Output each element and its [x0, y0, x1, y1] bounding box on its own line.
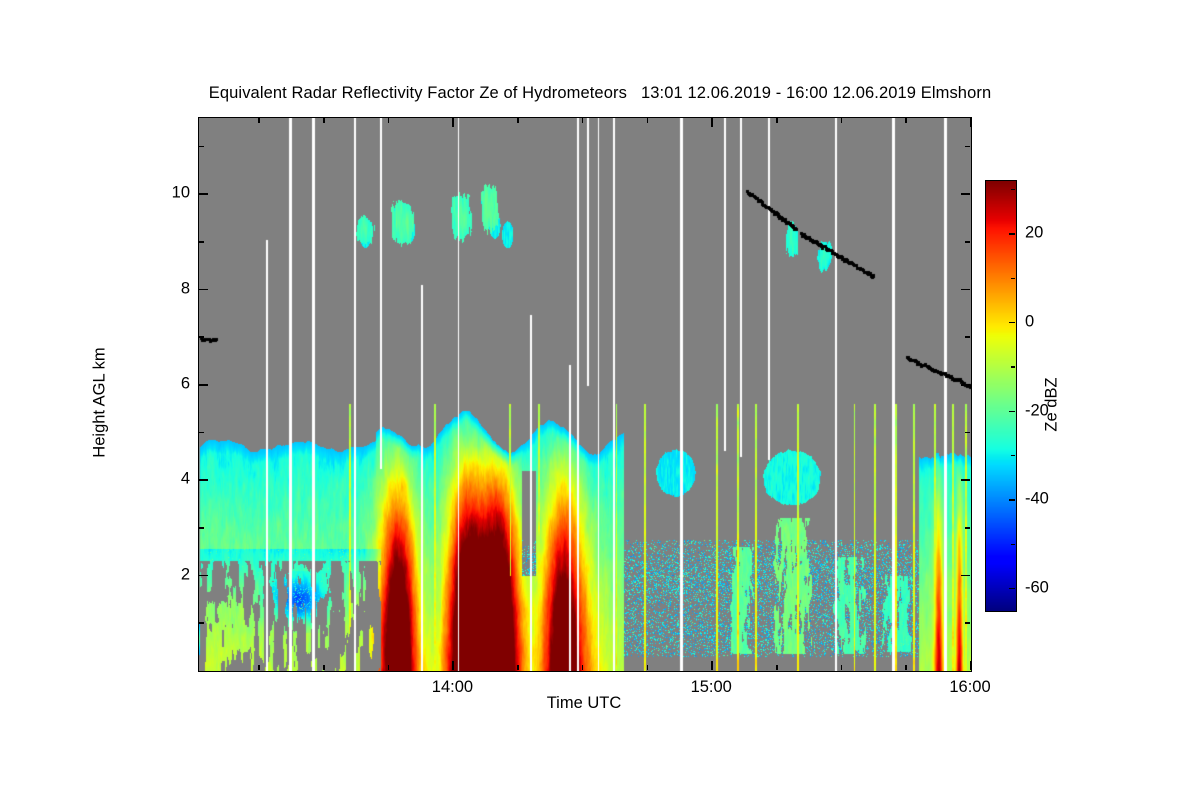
- y-minor-tick: [965, 241, 970, 243]
- y-major-tick: [199, 575, 208, 577]
- y-minor-tick: [199, 146, 204, 148]
- x-major-tick: [711, 661, 713, 670]
- x-major-tick: [970, 118, 972, 127]
- y-tick-label: 10: [152, 184, 190, 203]
- colorbar-minor-tick: [1011, 544, 1015, 545]
- radar-figure: Equivalent Radar Reflectivity Factor Ze …: [0, 0, 1200, 800]
- y-major-tick-right: [961, 289, 970, 291]
- colorbar-tick-label: 0: [1025, 312, 1034, 331]
- x-major-tick: [711, 118, 713, 127]
- plot-area[interactable]: [198, 117, 972, 672]
- colorbar-tick-label: -60: [1025, 578, 1049, 597]
- y-major-tick-right: [961, 384, 970, 386]
- y-minor-tick: [199, 622, 204, 624]
- y-minor-tick: [965, 622, 970, 624]
- x-minor-tick: [905, 118, 907, 123]
- x-minor-tick: [776, 118, 778, 123]
- y-minor-tick: [199, 432, 204, 434]
- y-major-tick-right: [961, 479, 970, 481]
- y-minor-tick: [965, 146, 970, 148]
- y-major-tick: [199, 193, 208, 195]
- y-tick-label: 6: [152, 374, 190, 393]
- x-minor-tick: [582, 118, 584, 123]
- colorbar-tick: [1009, 588, 1015, 590]
- y-tick-label: 8: [152, 279, 190, 298]
- x-minor-tick: [258, 665, 260, 670]
- y-tick-label: 2: [152, 565, 190, 584]
- colorbar-tick: [1009, 499, 1015, 501]
- x-minor-tick: [258, 118, 260, 123]
- colorbar-minor-tick: [1011, 366, 1015, 367]
- y-minor-tick: [965, 527, 970, 529]
- y-major-tick: [199, 479, 208, 481]
- y-major-tick-right: [961, 575, 970, 577]
- x-minor-tick: [323, 118, 325, 123]
- x-major-tick: [452, 661, 454, 670]
- colorbar-tick: [1009, 233, 1015, 235]
- x-major-tick: [970, 661, 972, 670]
- colorbar-title: Ze dBZ: [1043, 335, 1062, 475]
- y-tick-label: 4: [152, 470, 190, 489]
- colorbar[interactable]: [985, 180, 1017, 612]
- y-major-tick: [199, 384, 208, 386]
- radar-heatmap-canvas[interactable]: [199, 118, 971, 671]
- y-minor-tick: [199, 336, 204, 338]
- x-minor-tick: [323, 665, 325, 670]
- x-axis-title: Time UTC: [198, 694, 970, 713]
- x-minor-tick: [905, 665, 907, 670]
- y-major-tick-right: [961, 193, 970, 195]
- y-axis-title: Height AGL km: [91, 323, 110, 483]
- y-major-tick: [199, 289, 208, 291]
- y-minor-tick: [965, 336, 970, 338]
- x-minor-tick: [582, 665, 584, 670]
- x-minor-tick: [388, 665, 390, 670]
- x-minor-tick: [841, 118, 843, 123]
- y-minor-tick: [965, 432, 970, 434]
- colorbar-tick-label: -40: [1025, 490, 1049, 509]
- y-minor-tick: [199, 241, 204, 243]
- x-minor-tick: [647, 665, 649, 670]
- colorbar-minor-tick: [1011, 189, 1015, 190]
- colorbar-minor-tick: [1011, 278, 1015, 279]
- x-minor-tick: [517, 118, 519, 123]
- x-minor-tick: [841, 665, 843, 670]
- colorbar-gradient: [986, 181, 1016, 611]
- page-title: Equivalent Radar Reflectivity Factor Ze …: [0, 84, 1200, 103]
- x-minor-tick: [647, 118, 649, 123]
- x-minor-tick: [388, 118, 390, 123]
- x-major-tick: [452, 118, 454, 127]
- colorbar-tick-label: 20: [1025, 224, 1043, 243]
- x-minor-tick: [517, 665, 519, 670]
- x-minor-tick: [776, 665, 778, 670]
- y-minor-tick: [199, 527, 204, 529]
- colorbar-minor-tick: [1011, 455, 1015, 456]
- colorbar-tick: [1009, 411, 1015, 413]
- colorbar-tick: [1009, 322, 1015, 324]
